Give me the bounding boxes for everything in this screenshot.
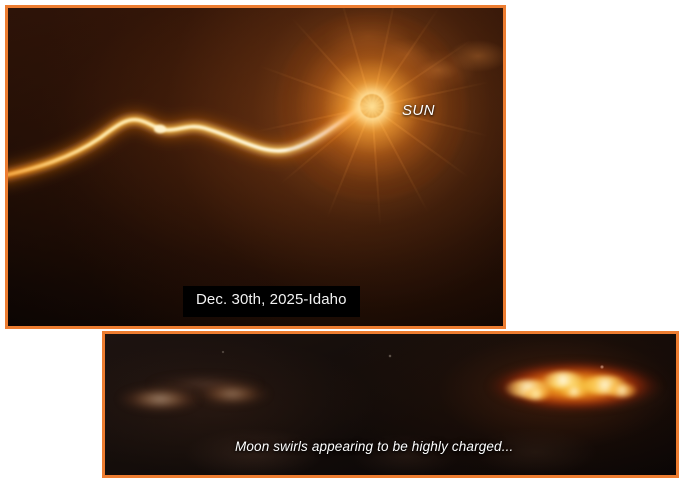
dim-moon-swirl-left (113, 386, 199, 412)
sun-photo-panel: SUN Dec. 30th, 2025-Idaho (5, 5, 506, 329)
date-location-caption: Dec. 30th, 2025-Idaho (183, 286, 360, 317)
swirl-hotspot-4 (521, 388, 551, 400)
bright-charged-swirl (487, 360, 663, 412)
moon-swirls-photo-panel: Moon swirls appearing to be highly charg… (102, 331, 679, 478)
moon-swirls-caption: Moon swirls appearing to be highly charg… (235, 439, 513, 454)
swirl-hotspot-5 (607, 384, 637, 397)
sun-core (360, 94, 384, 118)
dim-moon-swirl-center (197, 382, 275, 406)
sun-label: SUN (402, 102, 435, 119)
swirl-hotspot-6 (561, 386, 587, 397)
